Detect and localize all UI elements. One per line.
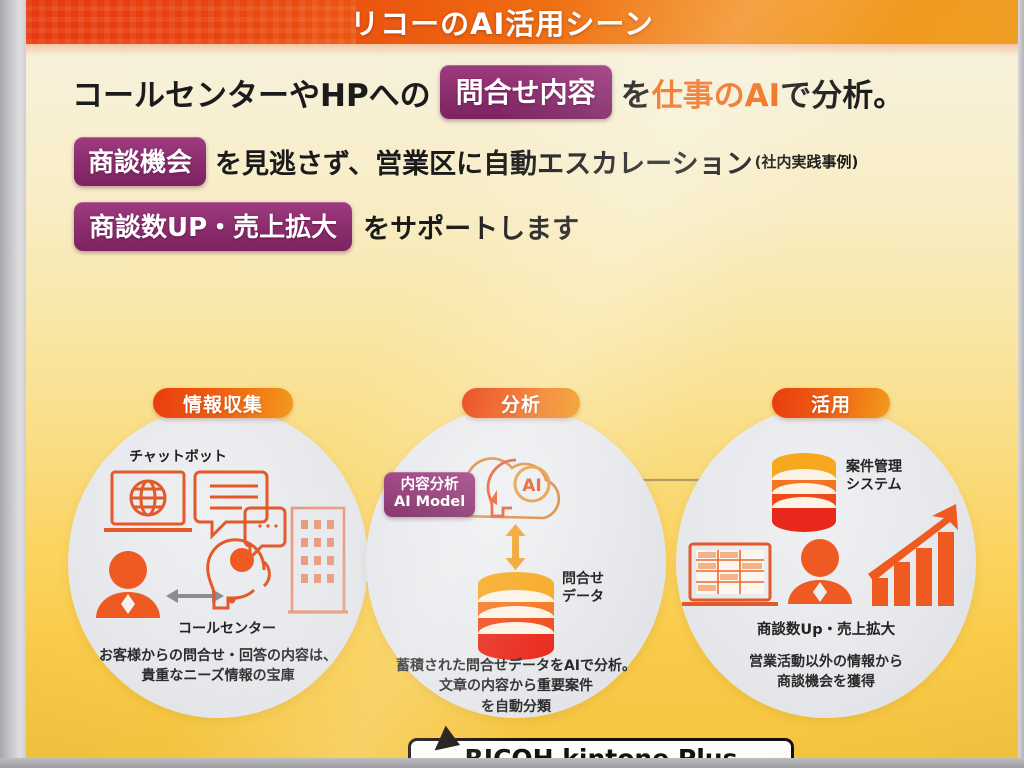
photo-frame-bottom [0, 758, 1024, 768]
bar-chart-growth-icon [868, 504, 958, 606]
inquiry-data-label: 問合せ データ [562, 570, 604, 606]
highlight-tag-inquiry-content: 問合せ内容 [440, 65, 612, 119]
headline-1-mid: を [621, 70, 652, 115]
panel-2-caption-line-2: 文章の内容から重要案件 [366, 676, 666, 696]
up-down-arrow-icon [506, 524, 526, 570]
panel-analysis: 分析 [366, 388, 676, 718]
chatbot-label: チャットボット [108, 446, 248, 466]
case-management-label-line-1: 案件管理 [846, 458, 902, 476]
ai-model-tag: 内容分析 AI Model [384, 472, 475, 517]
inquiry-data-label-line-1: 問合せ [562, 570, 604, 588]
database-icon [478, 572, 554, 660]
laptop-globe-icon [104, 472, 192, 530]
sales-growth-label: 商談数Up・売上拡大 [676, 618, 976, 639]
inquiry-data-label-line-2: データ [562, 588, 604, 606]
case-management-label-line-2: システム [846, 476, 902, 494]
panel-1-caption-line-1: お客様からの問合せ・回答の内容は、 [68, 646, 368, 666]
laptop-table-icon [682, 544, 778, 604]
building-icon [288, 508, 348, 612]
highlight-tag-business-opportunity: 商談機会 [74, 137, 206, 186]
headline-block: コールセンターやHPへの 問合せ内容 を 仕事のAI で分析。 商談機会 を見逃… [26, 56, 1018, 258]
panel-1-caption-line-2: 貴重なニーズ情報の宝庫 [68, 666, 368, 686]
panel-3-caption: 営業活動以外の情報から 商談機会を獲得 [676, 652, 976, 693]
person-icon [96, 551, 160, 618]
panel-2-content: AI [366, 406, 666, 718]
case-management-system-label: 案件管理 システム [846, 458, 902, 494]
panel-3-badge: 活用 [772, 388, 890, 418]
headline-1-accent: 仕事のAI [652, 70, 781, 115]
page-title: リコーのAI活用シーン [26, 0, 1018, 44]
photo-frame-left [0, 0, 26, 768]
banner-fade [26, 44, 1018, 56]
panel-information-collection: 情報収集 チャットボット [68, 388, 378, 718]
person-icon [788, 539, 852, 604]
panel-2-caption: 蓄積された問合せデータをAIで分析。 文章の内容から重要案件 を自動分類 [366, 656, 666, 717]
headline-3-text: をサポートします [363, 207, 579, 246]
headline-line-1: コールセンターやHPへの 問合せ内容 を 仕事のAI で分析。 [26, 56, 1018, 128]
headline-1-pre: コールセンターやHPへの [72, 70, 431, 115]
headline-line-2: 商談機会 を見逃さず、営業区に自動エスカレーション (社内実践事例) [26, 128, 1018, 194]
panel-2-badge: 分析 [462, 388, 580, 418]
ai-model-tag-line-2: AI Model [394, 494, 465, 511]
poster-photo: リコーのAI活用シーン コールセンターやHPへの 問合せ内容 を 仕事のAI で… [0, 0, 1024, 768]
call-center-label: コールセンター [178, 618, 328, 638]
chat-bubble-icon [195, 472, 285, 558]
title-banner: リコーのAI活用シーン [26, 0, 1018, 44]
headline-1-post: で分析。 [780, 70, 904, 115]
highlight-tag-sales-growth: 商談数UP・売上拡大 [74, 202, 352, 251]
headline-2-text: を見逃さず、営業区に自動エスカレーション [215, 142, 753, 181]
poster-sheet: リコーのAI活用シーン コールセンターやHPへの 問合せ内容 を 仕事のAI で… [26, 0, 1018, 762]
panel-utilization: 活用 [676, 388, 986, 718]
panel-2-caption-line-3: を自動分類 [366, 697, 666, 717]
photo-frame-right [1018, 0, 1024, 768]
panel-2-caption-line-1: 蓄積された問合せデータをAIで分析。 [366, 656, 666, 676]
process-panels: 情報収集 チャットボット [26, 388, 1018, 728]
headline-line-3: 商談数UP・売上拡大 をサポートします [26, 194, 1018, 258]
panel-1-icons [68, 464, 368, 674]
panel-3-caption-line-1: 営業活動以外の情報から [676, 652, 976, 672]
panel-1-content: チャットボット [68, 406, 368, 718]
ai-model-tag-line-1: 内容分析 [401, 477, 459, 494]
panel-1-caption: お客様からの問合せ・回答の内容は、 貴重なニーズ情報の宝庫 [68, 646, 368, 687]
panel-3-caption-line-2: 商談機会を獲得 [676, 672, 976, 692]
panel-1-badge: 情報収集 [153, 388, 293, 418]
ai-circle-icon: AI [515, 467, 549, 501]
headline-2-note: (社内実践事例) [755, 151, 859, 172]
ai-circle-text: AI [522, 476, 541, 496]
panel-3-content: 案件管理 システム 商談数Up・売上拡大 営業活動以外の情報から 商談機会を獲得 [676, 406, 976, 718]
database-icon [772, 453, 836, 532]
